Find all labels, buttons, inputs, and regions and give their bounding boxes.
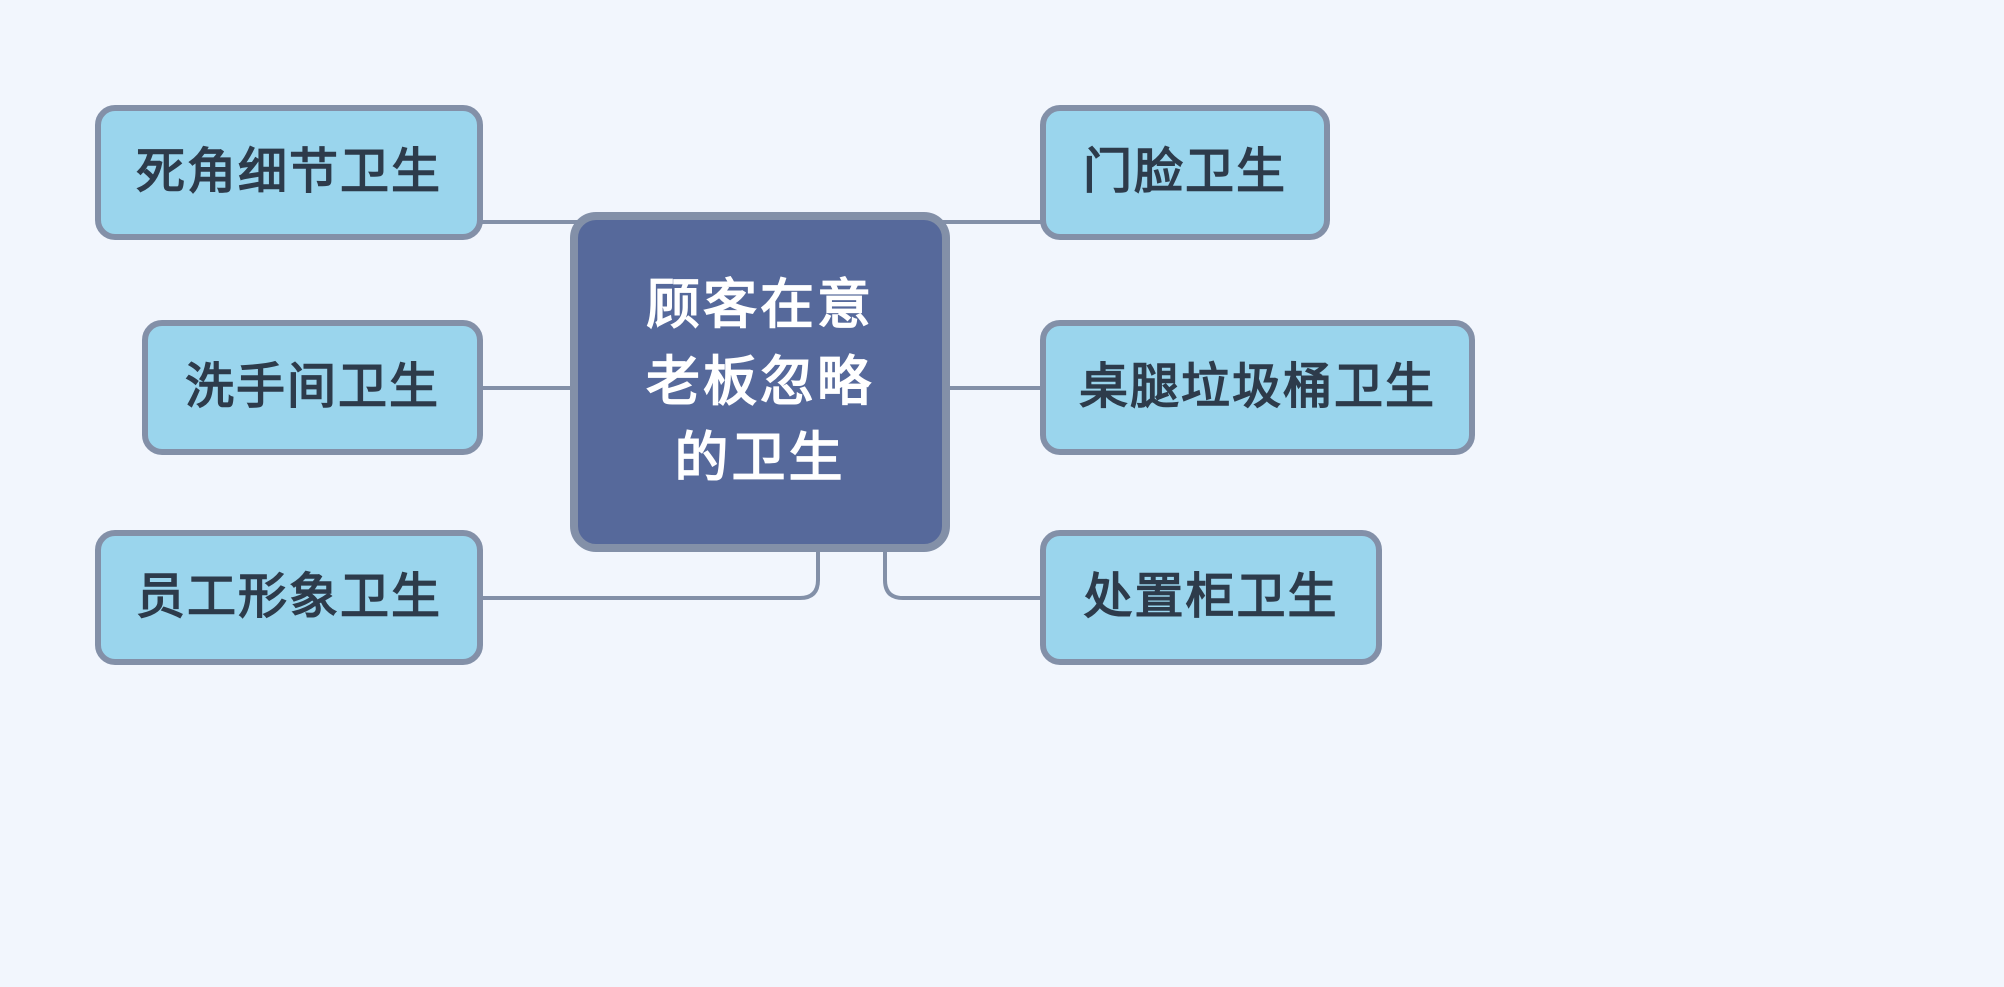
branch-label: 洗手间卫生 [185, 359, 440, 415]
connector-left-bottom [482, 544, 818, 598]
branch-label: 员工形象卫生 [136, 569, 442, 625]
branch-label: 死角细节卫生 [136, 144, 442, 200]
branch-node-right-bottom[interactable]: 处置柜卫生 [1040, 530, 1382, 665]
branch-label: 门脸卫生 [1083, 144, 1287, 200]
branch-label: 桌腿垃圾桶卫生 [1079, 359, 1436, 415]
center-line-2: 老板忽略 [646, 344, 874, 421]
center-line-3: 的卫生 [646, 420, 874, 497]
branch-label: 处置柜卫生 [1083, 569, 1338, 625]
center-node-text-block: 顾客在意 老板忽略 的卫生 [646, 267, 874, 497]
branch-node-left-middle[interactable]: 洗手间卫生 [142, 320, 483, 455]
branch-node-right-top[interactable]: 门脸卫生 [1040, 105, 1330, 240]
branch-node-left-top[interactable]: 死角细节卫生 [95, 105, 483, 240]
center-line-1: 顾客在意 [646, 267, 874, 344]
connector-right-bottom [885, 544, 1042, 598]
branch-node-left-bottom[interactable]: 员工形象卫生 [95, 530, 483, 665]
center-node[interactable]: 顾客在意 老板忽略 的卫生 [570, 212, 950, 552]
branch-node-right-middle[interactable]: 桌腿垃圾桶卫生 [1040, 320, 1475, 455]
mindmap-canvas: 死角细节卫生 洗手间卫生 员工形象卫生 顾客在意 老板忽略 的卫生 门脸卫生 桌… [0, 0, 2004, 987]
